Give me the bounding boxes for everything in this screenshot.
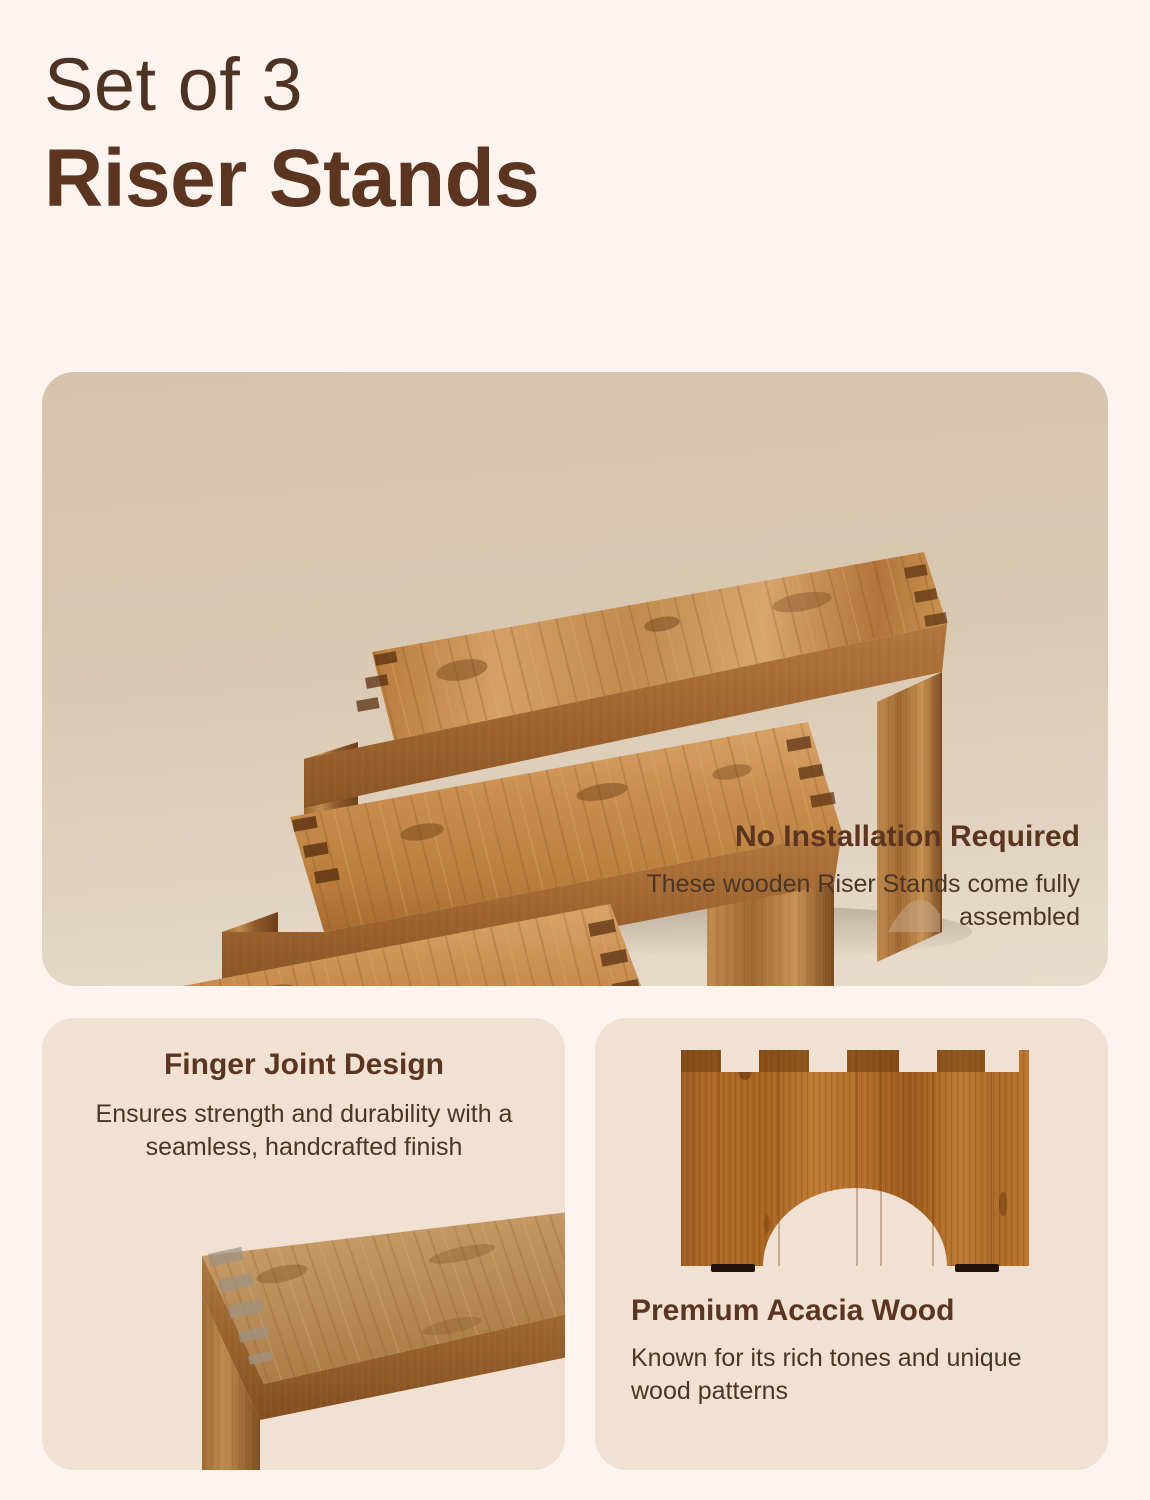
- panel-acacia-wood: Premium Acacia Wood Known for its rich t…: [595, 1018, 1108, 1470]
- page-title: Riser Stands: [44, 136, 744, 222]
- finger-feature-title: Finger Joint Design: [64, 1048, 544, 1083]
- infographic-page: Set of 3 Riser Stands: [0, 0, 1150, 1500]
- panel-no-installation: No Installation Required These wooden Ri…: [42, 372, 1108, 986]
- main-feature-text: No Installation Required These wooden Ri…: [610, 820, 1080, 934]
- main-feature-title: No Installation Required: [610, 820, 1080, 855]
- kicker-text: Set of 3: [44, 48, 744, 122]
- finger-feature-body: Ensures strength and durability with a s…: [64, 1098, 544, 1165]
- page-header: Set of 3 Riser Stands: [44, 48, 744, 222]
- panel-finger-joint: Finger Joint Design Ensures strength and…: [42, 1018, 565, 1470]
- acacia-feature-text: Premium Acacia Wood Known for its rich t…: [631, 1294, 1081, 1408]
- acacia-feature-title: Premium Acacia Wood: [631, 1294, 1081, 1329]
- acacia-side-panel-image: [675, 1028, 1035, 1290]
- acacia-feature-body: Known for its rich tones and unique wood…: [631, 1342, 1081, 1409]
- finger-feature-text: Finger Joint Design Ensures strength and…: [64, 1048, 544, 1164]
- finger-joint-corner-image: [162, 1198, 565, 1470]
- main-feature-body: These wooden Riser Stands come fully ass…: [610, 868, 1080, 935]
